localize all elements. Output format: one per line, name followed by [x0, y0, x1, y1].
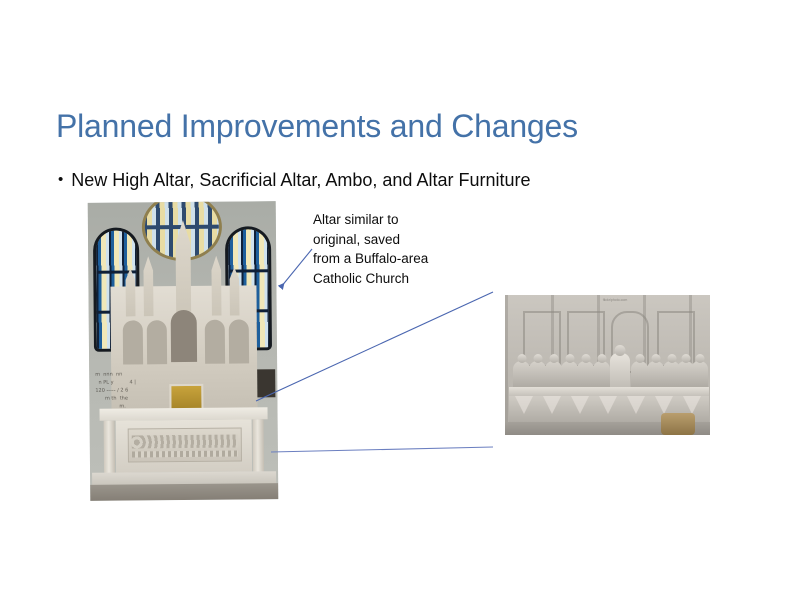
- altar-arcade-niche: [123, 320, 143, 364]
- callout-to-altar-arrow: [281, 249, 312, 287]
- callout-line-1: Altar similar to: [313, 210, 473, 230]
- table-drape-fold: [599, 396, 617, 414]
- altar-column: [253, 419, 264, 473]
- handwritten-measurement-notes: m nnn nn n PL y 4 | 120 ----- / 2 6 m th…: [95, 370, 206, 435]
- bullet-point-icon: •: [58, 168, 63, 192]
- floor-object: [661, 413, 695, 435]
- callout-line-3: from a Buffalo-area: [313, 249, 473, 269]
- table-drape-fold: [683, 396, 701, 414]
- relief-table-top: [509, 387, 709, 396]
- altar-arcade-niche: [147, 320, 167, 364]
- photo-watermark: flickr/photo.com: [585, 297, 645, 303]
- bullet-item-label: New High Altar, Sacrificial Altar, Ambo,…: [71, 168, 530, 192]
- altar-relief-to-photo-upper-line: [256, 292, 493, 401]
- table-drape-fold: [543, 396, 561, 414]
- apostle-figure-group: [513, 347, 705, 391]
- callout-line-2: original, saved: [313, 230, 473, 250]
- table-drape-fold: [571, 396, 589, 414]
- gothic-high-altar-photo: m nnn nn n PL y 4 | 120 ----- / 2 6 m th…: [88, 201, 279, 501]
- relief-photo-inner: flickr/photo.com: [505, 295, 710, 435]
- table-drape-fold: [515, 396, 533, 414]
- table-drape-fold: [655, 396, 673, 414]
- table-drape-fold: [627, 396, 645, 414]
- christ-figure: [610, 353, 630, 391]
- last-supper-relief-photo: flickr/photo.com: [495, 285, 720, 458]
- sanctuary-side-fixture: [257, 369, 275, 397]
- page-title: Planned Improvements and Changes: [56, 107, 578, 145]
- altar-arcade-niche: [205, 320, 225, 364]
- sanctuary-floor: [90, 483, 278, 501]
- callout-annotation-text: Altar similar to original, saved from a …: [313, 210, 473, 288]
- altar-central-niche: [171, 310, 197, 362]
- altar-relief-to-photo-lower-line: [271, 447, 493, 452]
- bullet-list-item: • New High Altar, Sacrificial Altar, Amb…: [58, 168, 530, 192]
- callout-line-4: Catholic Church: [313, 269, 473, 289]
- altar-arcade-niche: [229, 319, 249, 363]
- slide-canvas: Planned Improvements and Changes • New H…: [0, 0, 792, 612]
